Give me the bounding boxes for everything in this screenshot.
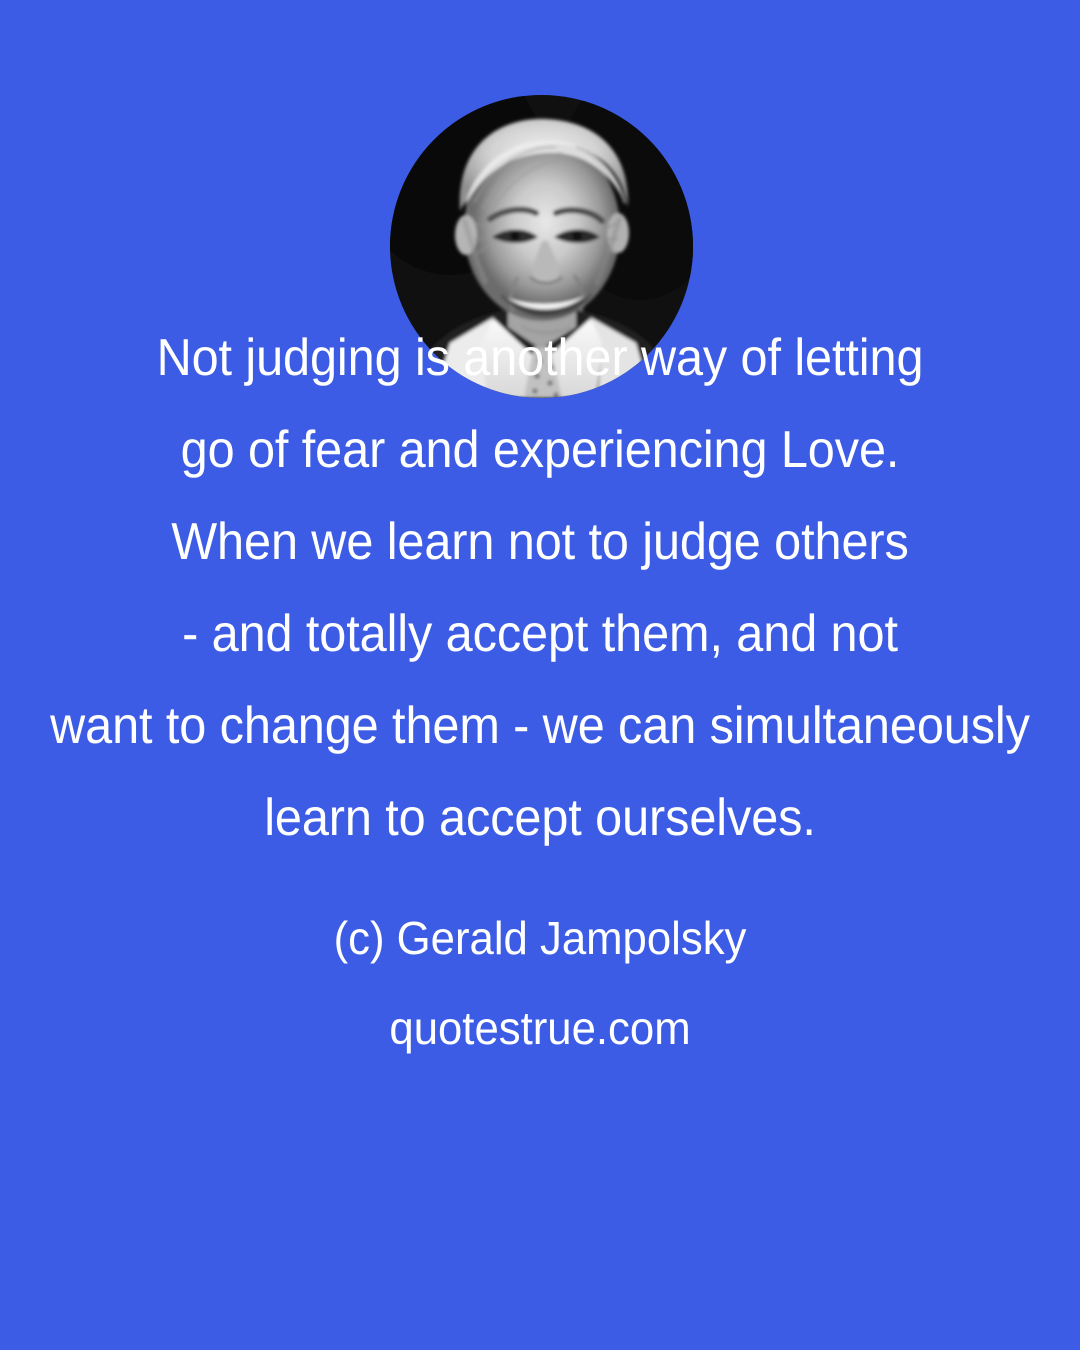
attribution-block: (c) Gerald Jampolsky quotestrue.com bbox=[0, 893, 1080, 1073]
quote-text: Not judging is another way of letting go… bbox=[0, 0, 1080, 864]
quote-line-2: go of fear and experiencing Love. bbox=[35, 404, 1045, 496]
source-website: quotestrue.com bbox=[27, 983, 1053, 1073]
quote-line-5: want to change them - we can simultaneou… bbox=[35, 680, 1045, 772]
quote-line-6: learn to accept ourselves. bbox=[35, 772, 1045, 864]
quote-line-1: Not judging is another way of letting bbox=[35, 312, 1045, 404]
quote-card: Not judging is another way of letting go… bbox=[0, 0, 1080, 1350]
quote-line-3: When we learn not to judge others bbox=[35, 496, 1045, 588]
quote-line-4: - and totally accept them, and not bbox=[35, 588, 1045, 680]
quote-author: (c) Gerald Jampolsky bbox=[27, 893, 1053, 983]
